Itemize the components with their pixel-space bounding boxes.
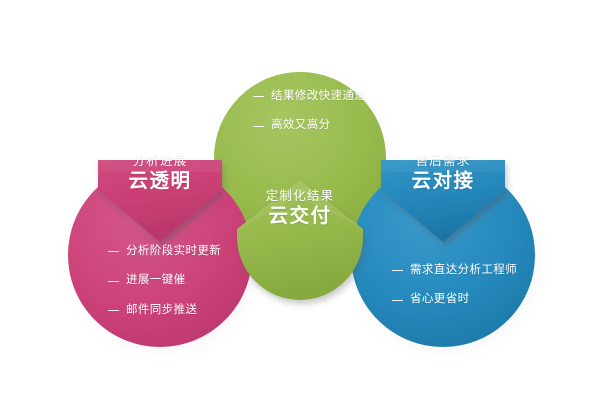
- venn-diagram-graphic: [0, 0, 600, 400]
- infographic-canvas: 分析进展 云透明 分析阶段实时更新 进展一键催 邮件同步推送 结果修改快速通道 …: [0, 0, 600, 400]
